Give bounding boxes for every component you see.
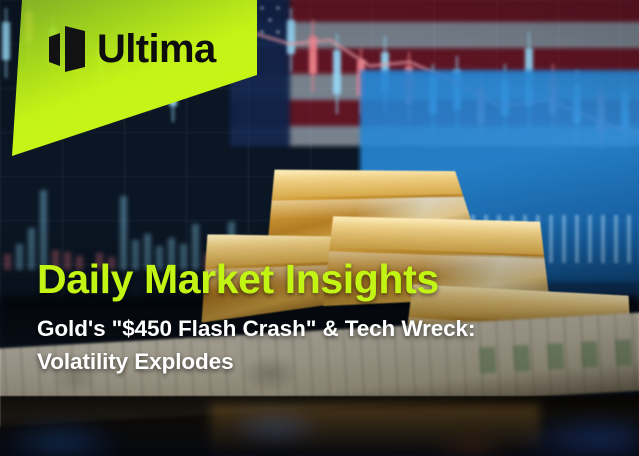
brand-name: Ultima — [97, 29, 216, 69]
market-insights-banner: Ultima Daily Market Insights Gold's "$45… — [0, 0, 639, 456]
ultima-open-book-mark-icon — [49, 26, 86, 72]
page-subtitle: Gold's "$450 Flash Crash" & Tech Wreck: … — [37, 313, 507, 379]
headline-block: Daily Market Insights Gold's "$450 Flash… — [37, 258, 597, 379]
brand-logo[interactable]: Ultima — [49, 26, 216, 72]
page-subtitle-line1: Gold's "$450 Flash Crash" & Tech Wreck: — [37, 316, 475, 341]
page-subtitle-line2: Volatility Explodes — [37, 349, 233, 374]
page-title: Daily Market Insights — [37, 258, 597, 301]
